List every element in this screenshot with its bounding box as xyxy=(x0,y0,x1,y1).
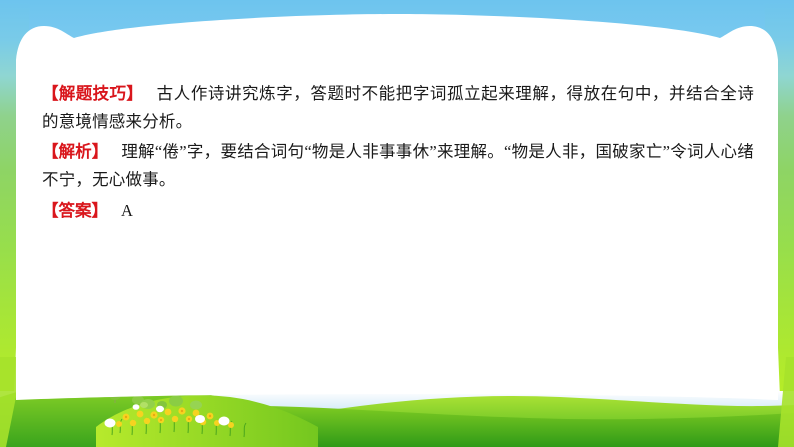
technique-text: 古人作诗讲究炼字，答题时不能把字词孤立起来理解，得放在句中，并结合全诗的意境情感… xyxy=(42,84,754,131)
answer-tag: 【答案】 xyxy=(42,201,108,220)
answer-paragraph: 【答案】A xyxy=(42,197,754,225)
analysis-tag: 【解析】 xyxy=(42,142,108,161)
content-area: 【解题技巧】古人作诗讲究炼字，答题时不能把字词孤立起来理解，得放在句中，并结合全… xyxy=(42,80,754,227)
technique-paragraph: 【解题技巧】古人作诗讲究炼字，答题时不能把字词孤立起来理解，得放在句中，并结合全… xyxy=(42,80,754,136)
analysis-paragraph: 【解析】理解“倦”字，要结合词句“物是人非事事休”来理解。“物是人非，国破家亡”… xyxy=(42,138,754,194)
analysis-text: 理解“倦”字，要结合词句“物是人非事事休”来理解。“物是人非，国破家亡”令词人心… xyxy=(42,142,754,189)
answer-value: A xyxy=(121,201,133,220)
technique-tag: 【解题技巧】 xyxy=(42,84,143,103)
slide-canvas: 【解题技巧】古人作诗讲究炼字，答题时不能把字词孤立起来理解，得放在句中，并结合全… xyxy=(0,0,794,447)
